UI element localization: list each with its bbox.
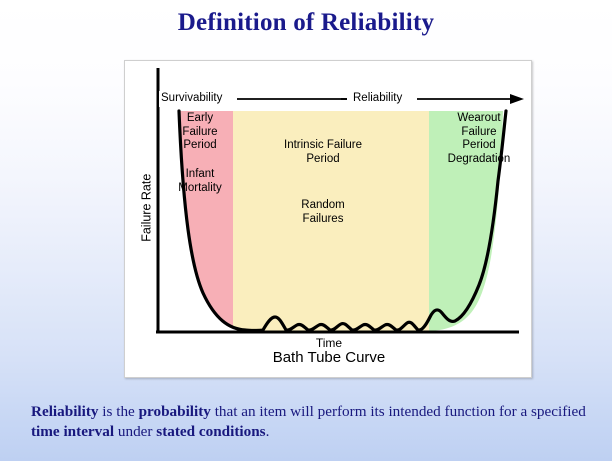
caption-text-3: under xyxy=(114,423,156,440)
bathtub-curve-chart: Failure Rate Survivability Reliability E… xyxy=(125,61,533,379)
definition-caption: Reliability is the probability that an i… xyxy=(31,402,586,442)
caption-text-2: that an item will perform its intended f… xyxy=(211,403,586,420)
caption-text-1: is the xyxy=(99,403,139,420)
caption-text-4: . xyxy=(266,423,270,440)
caption-term-reliability: Reliability xyxy=(31,403,99,420)
region-label-intrinsic-failure: Intrinsic Failure Period xyxy=(265,139,381,166)
page-title: Definition of Reliability xyxy=(0,9,612,37)
span-label-survivability: Survivability xyxy=(161,92,233,106)
figure-panel: Failure Rate Survivability Reliability E… xyxy=(124,60,532,378)
region-label-infant-mortality: Infant Mortality xyxy=(165,168,235,195)
region-label-random-failures: Random Failures xyxy=(273,199,373,226)
span-label-reliability: Reliability xyxy=(353,92,423,106)
caption-term-probability: probability xyxy=(139,403,211,420)
figure-caption: Bath Tube Curve xyxy=(229,351,429,365)
region-label-wearout-failure: Wearout Failure Period Degradation xyxy=(433,112,525,166)
caption-term-time-interval: time interval xyxy=(31,423,114,440)
region-label-early-failure: Early Failure Period xyxy=(165,112,235,153)
caption-term-stated-conditions: stated conditions xyxy=(156,423,265,440)
y-axis-label: Failure Rate xyxy=(140,163,154,253)
